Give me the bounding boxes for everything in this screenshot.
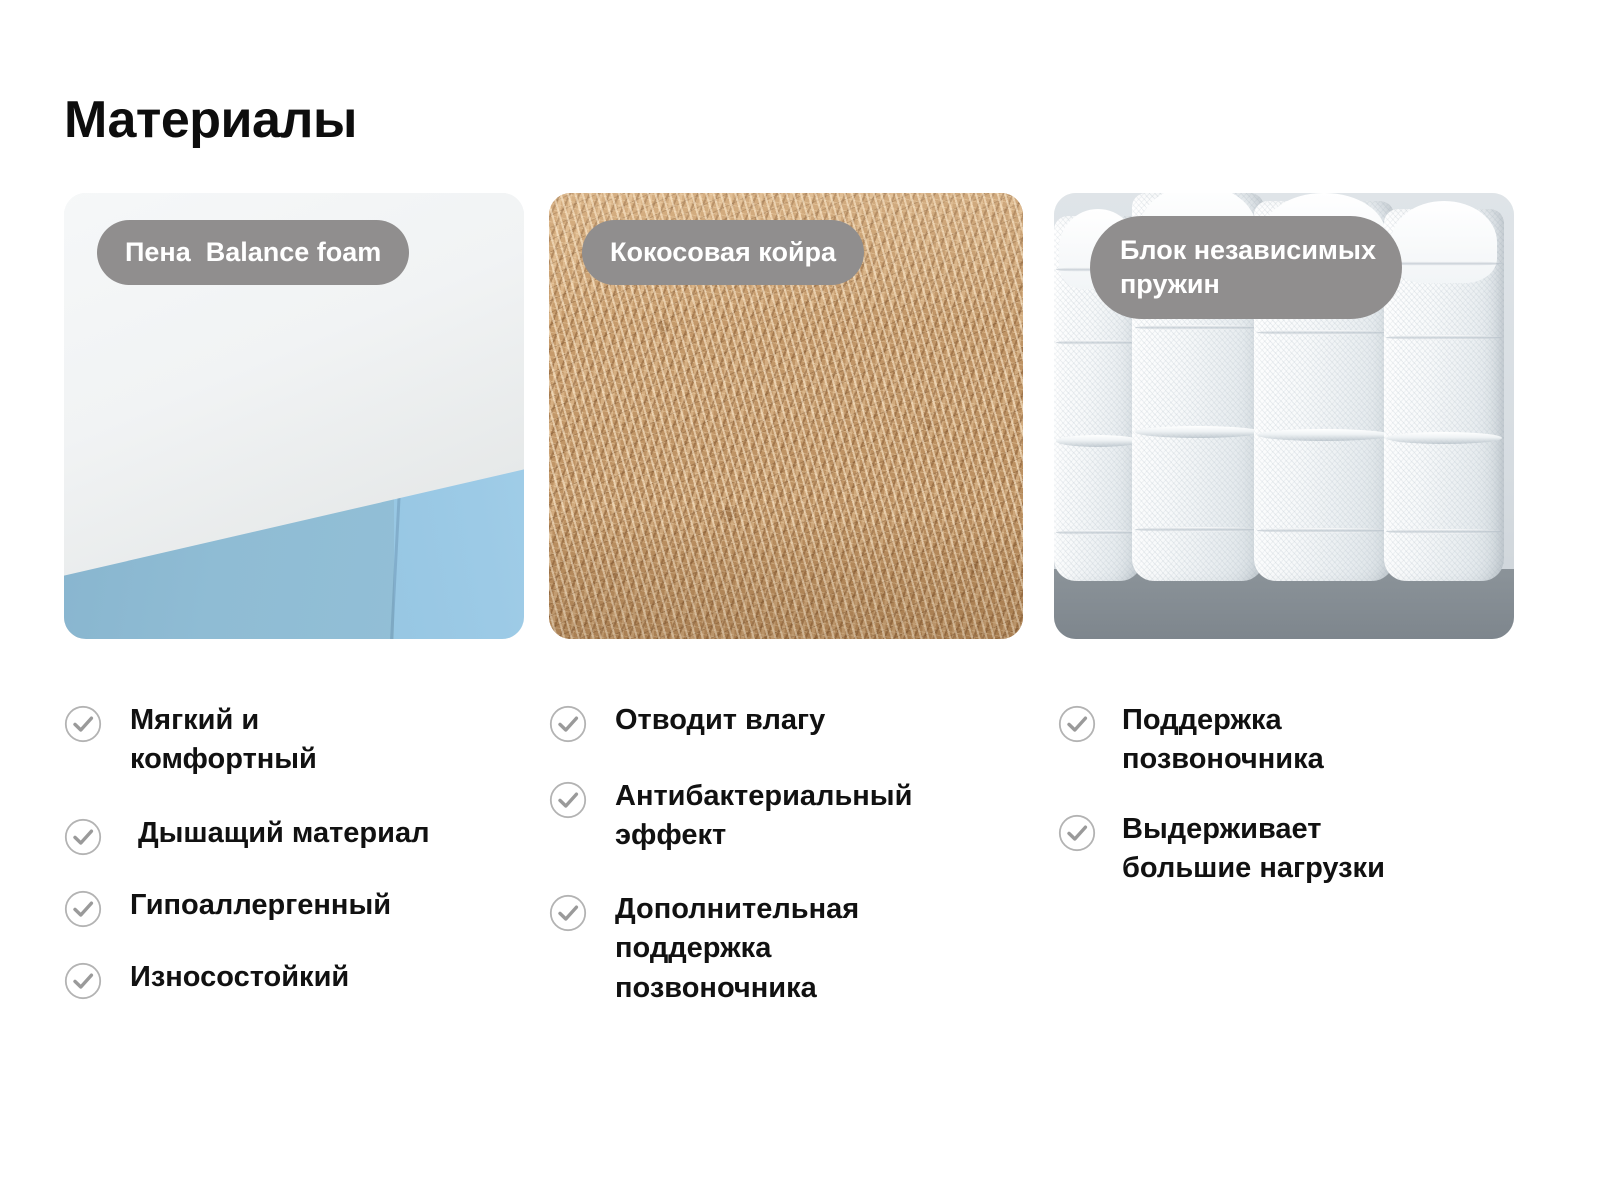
spring-seam xyxy=(1257,429,1391,441)
feature-label: Дополнительная поддержка позвоночника xyxy=(615,890,859,1008)
feature-item: Антибактериальный эффект xyxy=(549,777,1029,856)
feature-list-springs: Поддержка позвоночника Выдерживает больш… xyxy=(1058,701,1538,919)
spring-seam xyxy=(1386,529,1501,534)
check-circle-icon xyxy=(64,818,102,856)
spring-seam xyxy=(1056,435,1141,447)
check-circle-icon xyxy=(64,962,102,1000)
check-circle-icon xyxy=(64,890,102,928)
check-circle-icon xyxy=(1058,814,1096,852)
check-circle-icon xyxy=(1058,705,1096,743)
material-column-foam: Пена Balance foam Мягкий и комфортный xyxy=(64,193,524,639)
material-image-card-coir[interactable]: Кокосовая койра xyxy=(549,193,1023,639)
check-circle-icon xyxy=(549,781,587,819)
pocket-spring xyxy=(1384,209,1504,581)
feature-item: Выдерживает большие нагрузки xyxy=(1058,810,1538,889)
spring-seam xyxy=(1386,335,1501,340)
material-image-card-foam[interactable]: Пена Balance foam xyxy=(64,193,524,639)
materials-columns: Пена Balance foam Мягкий и комфортный xyxy=(64,193,1520,639)
feature-label: Выдерживает большие нагрузки xyxy=(1122,810,1385,889)
feature-label: Мягкий и комфортный xyxy=(130,701,317,780)
check-circle-icon xyxy=(549,894,587,932)
feature-item: Поддержка позвоночника xyxy=(1058,701,1538,780)
feature-label: Износостойкий xyxy=(130,958,349,997)
feature-item: Дополнительная поддержка позвоночника xyxy=(549,890,1029,1008)
feature-label: Поддержка позвоночника xyxy=(1122,701,1324,780)
material-column-springs: Блок независимых пружин Поддержка позвон… xyxy=(1054,193,1514,639)
spring-seam xyxy=(1135,325,1262,330)
feature-item: Износостойкий xyxy=(64,958,544,1000)
feature-label: Гипоаллергенный xyxy=(130,886,391,925)
spring-seam xyxy=(1386,432,1501,444)
feature-label: Дышащий материал xyxy=(138,814,430,853)
check-circle-icon xyxy=(549,705,587,743)
material-column-coir: Кокосовая койра Отводит влагу xyxy=(549,193,1029,639)
feature-item: Гипоаллергенный xyxy=(64,886,544,928)
spring-seam xyxy=(1135,426,1262,438)
materials-slide: Материалы Пена Balance foam xyxy=(0,0,1600,1200)
feature-label: Антибактериальный эффект xyxy=(615,777,912,856)
material-label-foam: Пена Balance foam xyxy=(97,220,409,285)
page-title: Материалы xyxy=(64,94,357,146)
feature-label: Отводит влагу xyxy=(615,701,825,740)
spring-seam xyxy=(1056,340,1141,345)
spring-cap xyxy=(1391,201,1497,283)
check-circle-icon xyxy=(64,705,102,743)
feature-item: Дышащий материал xyxy=(64,814,544,856)
material-label-coir: Кокосовая койра xyxy=(582,220,864,285)
feature-list-foam: Мягкий и комфортный Дышащий материал xyxy=(64,701,544,1024)
spring-seam xyxy=(1135,527,1262,532)
material-image-card-springs[interactable]: Блок независимых пружин xyxy=(1054,193,1514,639)
spring-seam xyxy=(1257,528,1391,533)
material-label-springs: Блок независимых пружин xyxy=(1090,216,1402,319)
feature-item: Мягкий и комфортный xyxy=(64,701,544,780)
spring-seam xyxy=(1257,330,1391,335)
feature-item: Отводит влагу xyxy=(549,701,1029,743)
spring-seam xyxy=(1056,530,1141,535)
spring-seam xyxy=(1386,261,1501,266)
feature-list-coir: Отводит влагу Антибактериальный эффект xyxy=(549,701,1029,1042)
